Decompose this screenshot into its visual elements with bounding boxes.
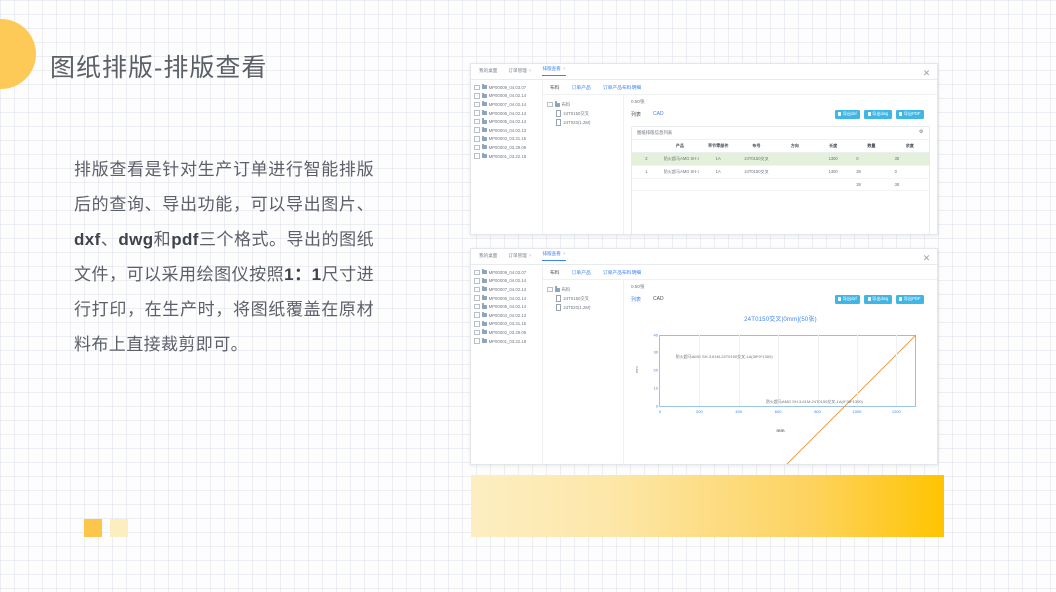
expand-toggle-icon[interactable]: - [474, 136, 480, 142]
cell-part: 1A [699, 165, 737, 178]
column-header [632, 140, 661, 153]
tree-item-label: MP00005_04.02.14 [489, 119, 527, 124]
column-header: 产品 [661, 140, 699, 153]
column-header: 布号 [737, 140, 775, 153]
tab-label: 我的桌面 [479, 68, 497, 73]
chart-annotation: 防火超马AMG SH-3.61M-24T0150交叉-1A(38*0*1300) [676, 354, 773, 360]
table-card: 图纸排版信息列表 ⚙ 产品苹节零部件布号方向长度数量余度 2防火超马AMG SH… [631, 126, 930, 235]
expand-toggle-icon[interactable]: - [474, 127, 480, 133]
cell-qty: 38 [852, 165, 890, 178]
view-tab-列表[interactable]: 列表 [631, 296, 641, 303]
decorative-circle [0, 19, 36, 89]
export-button-row-bottom: 导出dxf导出dwg导出PDF [835, 295, 930, 304]
table-head: 产品苹节零部件布号方向长度数量余度 [632, 140, 929, 153]
tree-item[interactable]: -MP00004_04.02.13 [474, 126, 540, 135]
export-button-label: 导出PDF [904, 297, 921, 301]
fabric-tree-root[interactable]: -布料 [547, 285, 619, 294]
tree-item[interactable]: -MP00008_04.02.14 [474, 92, 540, 101]
tree-item[interactable]: -MP00003_03.31.15 [474, 135, 540, 144]
x-tick-label: 0 [659, 409, 661, 414]
folder-icon [482, 120, 487, 124]
tree-item-label: MP00007_04.02.14 [489, 102, 527, 107]
cell-idx: 1 [632, 165, 661, 178]
view-tab-列表[interactable]: 列表 [631, 111, 641, 118]
tree-item[interactable]: -MP00004_04.02.13 [474, 311, 540, 320]
table-caption-row: 图纸排版信息列表 ⚙ [632, 127, 929, 140]
total-cell [632, 178, 661, 190]
cell-fabric: 24T0150交叉 [737, 165, 775, 178]
folder-icon [482, 339, 487, 343]
tab-close-icon[interactable]: × [529, 253, 532, 258]
tab-label: 我的桌面 [479, 253, 497, 258]
x-tick-label: 400 [735, 409, 742, 414]
export-button-label: 导出dwg [872, 297, 888, 301]
close-icon[interactable]: ✕ [922, 69, 931, 78]
export-button-label: 导出dwg [872, 112, 888, 116]
x-tick-label: 800 [814, 409, 821, 414]
folder-icon [482, 128, 487, 132]
screenshot-window-list-view: ✕ 我的桌面订单管理×排版查看× -MP00009_04.03.07-MP000… [470, 63, 938, 235]
folder-icon [482, 137, 487, 141]
tab-close-icon[interactable]: × [563, 251, 566, 256]
table-total-row: 3838 [632, 178, 929, 190]
sub-tab-1[interactable]: 订单产品 [572, 84, 591, 91]
grid-line [896, 335, 897, 406]
fabric-tree-root-label: 布料 [562, 102, 571, 108]
y-tick-label: 30 [654, 350, 658, 355]
export-button-label: 导出dxf [843, 297, 857, 301]
column-header: 苹节零部件 [699, 140, 737, 153]
cell-product: 防火超马AMG SH-3.61M [661, 152, 699, 165]
cell-dir [776, 165, 814, 178]
tree-item[interactable]: -MP00007_04.02.14 [474, 285, 540, 294]
fabric-tree-item-label: 24T020(1.2M) [563, 305, 590, 310]
file-icon [556, 304, 561, 310]
y-tick-label: 0 [656, 403, 658, 408]
y-tick-label: 20 [654, 368, 658, 373]
tab-label: 排版查看 [542, 251, 560, 256]
body-emphasis: pdf [171, 230, 199, 249]
file-export-icon [899, 112, 902, 116]
expand-toggle-icon[interactable]: - [474, 295, 480, 301]
tab-2[interactable]: 排版查看× [542, 67, 565, 76]
fabric-tree-item[interactable]: 24T020(1.2M) [547, 303, 619, 312]
expand-toggle-icon[interactable]: - [547, 287, 553, 293]
table-row[interactable]: 1防火超马AMG SH-3.61M1A24T0150交叉1300380 [632, 165, 929, 178]
close-icon[interactable]: ✕ [922, 254, 931, 263]
fabric-tree-item[interactable]: 24T020(1.2M) [547, 118, 619, 127]
view-tabs-top: 列表CAD导出dxf导出dwg导出PDF [624, 105, 937, 123]
folder-icon [482, 154, 487, 158]
tree-item-label: MP00006_04.02.14 [489, 296, 527, 301]
tree-item-label: MP00001_03.22.18 [489, 154, 527, 159]
tab-2[interactable]: 排版查看× [542, 252, 565, 261]
tab-close-icon[interactable]: × [563, 66, 566, 71]
sub-tab-2[interactable]: 订单产品布料明细 [603, 269, 641, 276]
folder-icon [482, 111, 487, 115]
page-title: 图纸排版-排版查看 [50, 48, 267, 84]
screenshot-window-cad-view: ✕ 我的桌面订单管理×排版查看× -MP00009_04.03.07-MP000… [470, 248, 938, 465]
tree-item[interactable]: -MP00009_04.03.07 [474, 83, 540, 92]
expand-toggle-icon[interactable]: - [474, 330, 480, 336]
export-button[interactable]: 导出dxf [835, 110, 860, 119]
x-tick-label: 1000 [852, 409, 861, 414]
total-cell: 38 [891, 178, 929, 190]
tree-item-label: MP00004_04.02.13 [489, 128, 527, 133]
x-tick-label: 600 [775, 409, 782, 414]
chart-annotation: 防火超马AMG SH-3.61M-24T0150交叉-1A(0*38*1300) [766, 399, 863, 405]
tree-item-label: MP00003_03.31.15 [489, 321, 527, 326]
tree-item[interactable]: -MP00008_04.02.14 [474, 277, 540, 286]
cad-chart: 24T0150交叉|0mm](50张) mm 01020304002004006… [631, 308, 930, 465]
sub-tab-0[interactable]: 布料 [550, 84, 560, 91]
body-emphasis: dwg [118, 230, 153, 249]
body-text: 和 [154, 230, 172, 249]
grid-line [857, 335, 858, 406]
y-tick-label: 40 [654, 332, 658, 337]
body-emphasis: dxf [74, 230, 101, 249]
column-header: 方向 [776, 140, 814, 153]
tree-item-label: MP00005_04.02.14 [489, 304, 527, 309]
column-header: 数量 [852, 140, 890, 153]
view-tabs-bottom: 列表CAD导出dxf导出dwg导出PDF [624, 290, 937, 308]
view-tab-CAD[interactable]: CAD [653, 296, 664, 302]
tree-item-label: MP00003_03.31.15 [489, 136, 527, 141]
tree-item-label: MP00008_04.02.14 [489, 278, 527, 283]
tab-close-icon[interactable]: × [529, 68, 532, 73]
fabric-tree-bottom[interactable]: -布料24T0150交叉24T020(1.2M) [543, 280, 624, 465]
folder-icon [482, 94, 487, 98]
body-text: 排版查看是针对生产订单进行智能排版后的查询、导出功能，可以导出图片、 [74, 160, 374, 214]
total-cell: 38 [852, 178, 890, 190]
tree-item-label: MP00002_03.29.09 [489, 145, 527, 150]
tab-label: 排版查看 [542, 66, 560, 71]
folder-icon [482, 102, 487, 106]
expand-toggle-icon[interactable]: - [474, 270, 480, 276]
sub-tab-1[interactable]: 订单产品 [572, 269, 591, 276]
body-paragraph: 排版查看是针对生产订单进行智能排版后的查询、导出功能，可以导出图片、dxf、dw… [74, 152, 374, 362]
folder-icon [482, 145, 487, 149]
file-export-icon [838, 297, 841, 301]
tab-label: 订单管理 [508, 68, 526, 73]
order-tree-bottom[interactable]: -MP00009_04.03.07-MP00008_04.02.14-MP000… [471, 265, 543, 465]
cell-part: 1A [699, 152, 737, 165]
fabric-tree-item[interactable]: 24T0150交叉 [547, 109, 619, 118]
decorative-square-pale [110, 519, 128, 537]
fabric-tree-item[interactable]: 24T0150交叉 [547, 294, 619, 303]
total-cell [814, 178, 852, 190]
body-text: 、 [101, 230, 119, 249]
file-icon [556, 119, 561, 125]
grid-line [818, 335, 819, 406]
tab-0[interactable]: 我的桌面 [479, 254, 497, 259]
main-tabbar-bottom: 我的桌面订单管理×排版查看× [471, 249, 937, 265]
tab-label: 订单管理 [508, 253, 526, 258]
tree-item-label: MP00002_03.29.09 [489, 330, 527, 335]
chart-xlabel: mm [776, 428, 784, 433]
expand-toggle-icon[interactable]: - [474, 102, 480, 108]
tree-item[interactable]: -MP00002_03.29.09 [474, 328, 540, 337]
export-button[interactable]: 导出PDF [896, 110, 924, 119]
view-tab-CAD[interactable]: CAD [653, 111, 664, 117]
grid-line [778, 335, 779, 406]
expand-toggle-icon[interactable]: - [474, 338, 480, 344]
cell-length: 1300 [814, 165, 852, 178]
fabric-tree-item-label: 24T0150交叉 [563, 111, 589, 117]
export-button-label: 导出PDF [904, 112, 921, 116]
total-cell [776, 178, 814, 190]
chart-title: 24T0150交叉|0mm](50张) [631, 308, 930, 323]
folder-icon [482, 287, 487, 291]
file-export-icon [838, 112, 841, 116]
gear-icon[interactable]: ⚙ [919, 130, 924, 135]
grid-line [739, 335, 740, 406]
expand-toggle-icon[interactable]: - [474, 85, 480, 91]
tree-item[interactable]: -MP00003_03.31.15 [474, 320, 540, 329]
decorative-square-solid [84, 519, 102, 537]
expand-toggle-icon[interactable]: - [474, 145, 480, 151]
expand-toggle-icon[interactable]: - [474, 110, 480, 116]
folder-icon [482, 296, 487, 300]
cell-length: 1300 [814, 152, 852, 165]
tab-1[interactable]: 订单管理× [508, 69, 531, 74]
nesting-table[interactable]: 产品苹节零部件布号方向长度数量余度 2防火超马AMG SH-3.61M1A24T… [632, 140, 929, 191]
order-tree-top[interactable]: -MP00009_04.03.07-MP00008_04.02.14-MP000… [471, 80, 543, 235]
export-button-label: 导出dxf [843, 112, 857, 116]
expand-toggle-icon[interactable]: - [474, 304, 480, 310]
fabric-tree-root-label: 布料 [562, 287, 571, 293]
tree-item-label: MP00009_04.03.07 [489, 85, 527, 90]
folder-icon [555, 103, 560, 107]
tree-item[interactable]: -MP00001_03.22.18 [474, 337, 540, 346]
file-export-icon [899, 297, 902, 301]
total-cell [661, 178, 699, 190]
y-tick-label: 10 [654, 385, 658, 390]
main-tabbar-top: 我的桌面订单管理×排版查看× [471, 64, 937, 80]
table-row[interactable]: 2防火超马AMG SH-3.61M1A24T0150交叉1300038 [632, 152, 929, 165]
export-button[interactable]: 导出dxf [835, 295, 860, 304]
tree-item[interactable]: -MP00005_04.02.14 [474, 302, 540, 311]
tree-item[interactable]: -MP00001_03.22.18 [474, 152, 540, 161]
tree-item-label: MP00001_03.22.18 [489, 339, 527, 344]
cell-product: 防火超马AMG SH-3.61M [661, 165, 699, 178]
tree-item[interactable]: -MP00005_04.02.14 [474, 117, 540, 126]
total-cell [737, 178, 775, 190]
total-cell [699, 178, 737, 190]
body-emphasis: 1：1 [284, 265, 321, 284]
folder-icon [555, 288, 560, 292]
file-icon [556, 295, 561, 301]
tab-1[interactable]: 订单管理× [508, 254, 531, 259]
tree-item-label: MP00008_04.02.14 [489, 93, 527, 98]
folder-icon [482, 85, 487, 89]
tree-item[interactable]: -MP00009_04.03.07 [474, 268, 540, 277]
chart-plot-area: mm 010203040020040060080010001200 mm 防火超… [635, 327, 926, 431]
expand-toggle-icon[interactable]: - [474, 312, 480, 318]
chart-ylabel: mm [634, 366, 639, 373]
folder-icon [482, 322, 487, 326]
expand-toggle-icon[interactable]: - [474, 119, 480, 125]
x-tick-label: 1200 [892, 409, 901, 414]
tree-item-label: MP00006_04.02.14 [489, 111, 527, 116]
file-icon [556, 110, 561, 116]
tree-item[interactable]: -MP00002_03.29.09 [474, 143, 540, 152]
file-export-icon [868, 112, 871, 116]
export-button-row-top: 导出dxf导出dwg导出PDF [835, 110, 930, 119]
decorative-gradient-bar [471, 475, 944, 537]
tab-0[interactable]: 我的桌面 [479, 69, 497, 74]
fabric-tree-top[interactable]: -布料24T0150交叉24T020(1.2M) [543, 95, 624, 235]
expand-toggle-icon[interactable]: - [474, 93, 480, 99]
file-export-icon [868, 297, 871, 301]
cell-rest: 0 [891, 165, 929, 178]
export-button[interactable]: 导出dwg [864, 295, 892, 304]
folder-icon [482, 305, 487, 309]
column-header: 长度 [814, 140, 852, 153]
tree-item-label: MP00007_04.02.14 [489, 287, 527, 292]
sub-tab-0[interactable]: 布料 [550, 269, 560, 276]
chart-axes: 010203040020040060080010001200 [659, 335, 916, 407]
sub-tabbar-top: 布料订单产品订单产品布料明细 [543, 80, 937, 95]
folder-icon [482, 330, 487, 334]
export-button[interactable]: 导出PDF [896, 295, 924, 304]
column-header: 余度 [891, 140, 929, 153]
cell-idx: 2 [632, 152, 661, 165]
expand-toggle-icon[interactable]: - [474, 321, 480, 327]
sub-tabbar-bottom: 布料订单产品订单产品布料明细 [543, 265, 937, 280]
table-caption: 图纸排版信息列表 [637, 130, 672, 136]
tree-item[interactable]: -MP00006_04.02.14 [474, 294, 540, 303]
tree-item-label: MP00004_04.02.13 [489, 313, 527, 318]
fabric-tree-item-label: 24T0150交叉 [563, 296, 589, 302]
x-tick-label: 200 [696, 409, 703, 414]
expand-toggle-icon[interactable]: - [474, 153, 480, 159]
expand-toggle-icon[interactable]: - [474, 278, 480, 284]
grid-line [699, 335, 700, 406]
folder-icon [482, 313, 487, 317]
sub-tab-2[interactable]: 订单产品布料明细 [603, 84, 641, 91]
fabric-tree-item-label: 24T020(1.2M) [563, 120, 590, 125]
cell-fabric: 24T0150交叉 [737, 152, 775, 165]
folder-icon [482, 270, 487, 274]
cell-qty: 0 [852, 152, 890, 165]
sheet-count-top: 0.50张 [624, 95, 937, 105]
cell-dir [776, 152, 814, 165]
table-header-row: 产品苹节零部件布号方向长度数量余度 [632, 140, 929, 153]
tree-item[interactable]: -MP00006_04.02.14 [474, 109, 540, 118]
sheet-count-bottom: 0.50张 [624, 280, 937, 290]
folder-icon [482, 279, 487, 283]
expand-toggle-icon[interactable]: - [474, 287, 480, 293]
fabric-tree-root[interactable]: -布料 [547, 100, 619, 109]
table-body: 2防火超马AMG SH-3.61M1A24T0150交叉13000381防火超马… [632, 152, 929, 190]
cell-rest: 38 [891, 152, 929, 165]
tree-item[interactable]: -MP00007_04.02.14 [474, 100, 540, 109]
export-button[interactable]: 导出dwg [864, 110, 892, 119]
tree-item-label: MP00009_04.03.07 [489, 270, 527, 275]
expand-toggle-icon[interactable]: - [547, 102, 553, 108]
